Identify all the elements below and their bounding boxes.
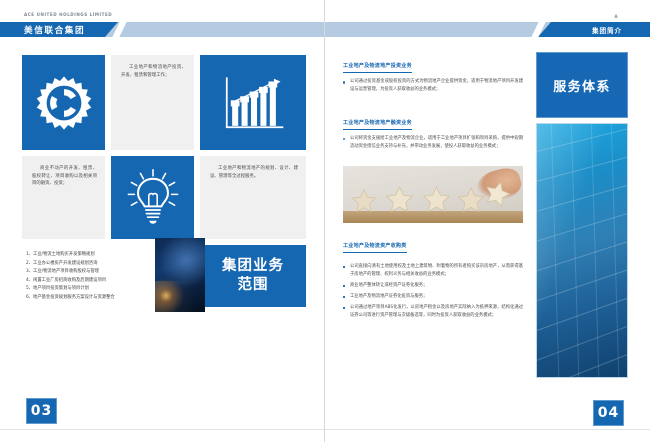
five-star-rating-photo <box>343 166 523 223</box>
corner-mark-icon: ▲ <box>614 13 618 19</box>
list-item: 工业地产及物流地产证券化投资与服务； <box>343 293 523 301</box>
section-investment: 工业地产及物流地产投资业务 公司通过投资基金或股权投资的方式为物流地产企业提供资… <box>343 52 523 95</box>
glass-grid <box>537 124 628 378</box>
intro-text-cell: 工业地产和物流地产投资、开发、租赁和管理工作； <box>111 55 194 150</box>
footer-rule-left <box>0 429 324 430</box>
bar-chart-icon <box>200 55 306 150</box>
list-item: 商业地产整体转让或经资产证券化服务； <box>343 282 523 290</box>
brand-english: ACE UNITED HOLDINGS LIMITED <box>24 12 112 17</box>
section-heading: 工业地产及物流地产融资业务 <box>343 119 412 130</box>
city-night-photo <box>155 238 205 312</box>
section-financing: 工业地产及物流地产融资业务 公司将资金支援给工业地产及物流企业，适用于工业地产项… <box>343 109 523 152</box>
section-heading: 工业地产及物流地产投资业务 <box>343 62 412 73</box>
section-title-right: 集团简介 <box>592 25 622 35</box>
page-right: 集团简介 ▲ 工业地产及物流地产投资业务 公司通过投资基金或股权投资的方式为物流… <box>325 0 650 442</box>
business-scope-box: 集团业务范围 <box>200 245 306 307</box>
chart-icon-cell <box>200 55 306 150</box>
business-scope-cell: 集团业务范围 <box>200 245 306 307</box>
section-paragraph: 公司通过投资基金或股权投资的方式为物流地产企业提供资金，适用于物流地产项目开发建… <box>343 78 523 95</box>
gear-icon <box>22 55 105 150</box>
service-system-title: 服务体系 <box>553 76 611 95</box>
lightbulb-icon <box>111 156 194 239</box>
acquisition-bullet-list: 公司直接向清有土地使用权及土地上建筑物、附着物的所有者购买该宗房地产，从而获得基… <box>343 263 523 321</box>
service-text-cell: 工业地产和物流地产的规划、设计、建设、管理等全过程服务。 <box>200 156 306 239</box>
list-item: 公司通过地产项目ABS化发行，以房地产租金以及房地产实际纳入为抵押来源，结构化通… <box>343 304 523 321</box>
service-text: 工业地产和物流地产的规划、设计、建设、管理等全过程服务。 <box>200 156 306 186</box>
star-icon <box>422 185 451 214</box>
star-icon <box>351 188 377 214</box>
brochure-spread: ACE UNITED HOLDINGS LIMITED 美信联合集团 <box>0 0 650 442</box>
commercial-text: 商业不动产的开发、租赁、股权转让、项目收购以及相关项目的融资、投资； <box>22 156 105 194</box>
page-number-left: 03 <box>26 398 57 424</box>
brand-chinese: 美信联合集团 <box>24 24 85 36</box>
night-photo-cell <box>155 238 205 312</box>
right-main-column: 工业地产及物流地产投资业务 公司通过投资基金或股权投资的方式为物流地产企业提供资… <box>343 52 523 323</box>
gear-icon-cell <box>22 55 105 150</box>
intro-text: 工业地产和物流地产投资、开发、租赁和管理工作； <box>111 55 194 85</box>
page-left: ACE UNITED HOLDINGS LIMITED 美信联合集团 <box>0 0 325 442</box>
service-system-box: 服务体系 <box>536 52 628 118</box>
page-number-right: 04 <box>593 400 624 426</box>
section-paragraph: 公司将资金支援给工业地产及物流企业，适用于工业地产项目扩张和项目采购，提供中短期… <box>343 135 523 152</box>
glass-building-photo <box>536 123 628 378</box>
right-rail: 服务体系 <box>536 52 628 378</box>
section-acquisition: 工业地产及物流资产收购类 公司直接向清有土地使用权及土地上建筑物、附着物的所有者… <box>343 232 523 321</box>
business-scope-title: 集团业务范围 <box>222 257 284 294</box>
list-item: 公司直接向清有土地使用权及土地上建筑物、附着物的所有者购买该宗房地产，从而获得基… <box>343 263 523 280</box>
star-icon <box>385 185 414 214</box>
commercial-text-cell: 商业不动产的开发、租赁、股权转让、项目收购以及相关项目的融资、投资； <box>22 156 105 239</box>
bulb-icon-cell <box>111 156 194 239</box>
footer-rule-right <box>325 429 650 430</box>
section-heading: 工业地产及物流资产收购类 <box>343 242 407 253</box>
